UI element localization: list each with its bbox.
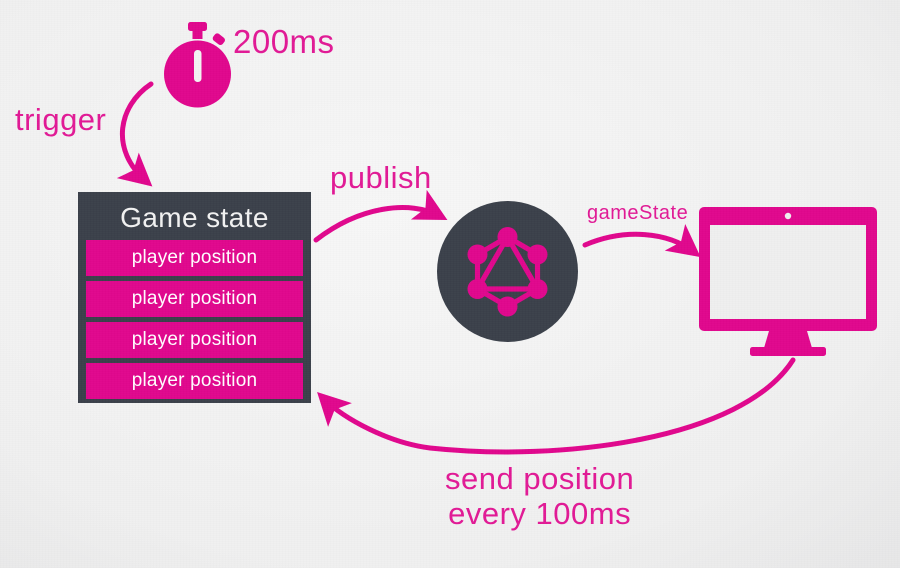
player-position-row: player position [86,322,303,358]
send-position-line-1: send position [445,462,634,497]
graphql-icon [437,201,578,342]
send-position-arrow [323,360,793,452]
player-position-row: player position [86,363,303,399]
trigger-label: trigger [15,103,106,138]
player-position-row: player position [86,281,303,317]
diagram-canvas: 200ms trigger publish gameState send pos… [0,0,900,568]
publish-arrow [316,208,440,240]
send-position-label: send position every 100ms [445,462,634,531]
gamestate-label: gameState [587,202,688,224]
timer-interval-label: 200ms [233,24,335,61]
send-position-line-2: every 100ms [445,497,634,532]
game-state-box: Game state player position player positi… [78,192,311,403]
gamestate-arrow [585,234,694,252]
stopwatch-icon [158,22,238,108]
game-state-title: Game state [86,198,303,240]
player-position-row: player position [86,240,303,276]
monitor-icon [697,203,879,359]
publish-label: publish [330,161,432,196]
trigger-arrow [122,84,151,181]
